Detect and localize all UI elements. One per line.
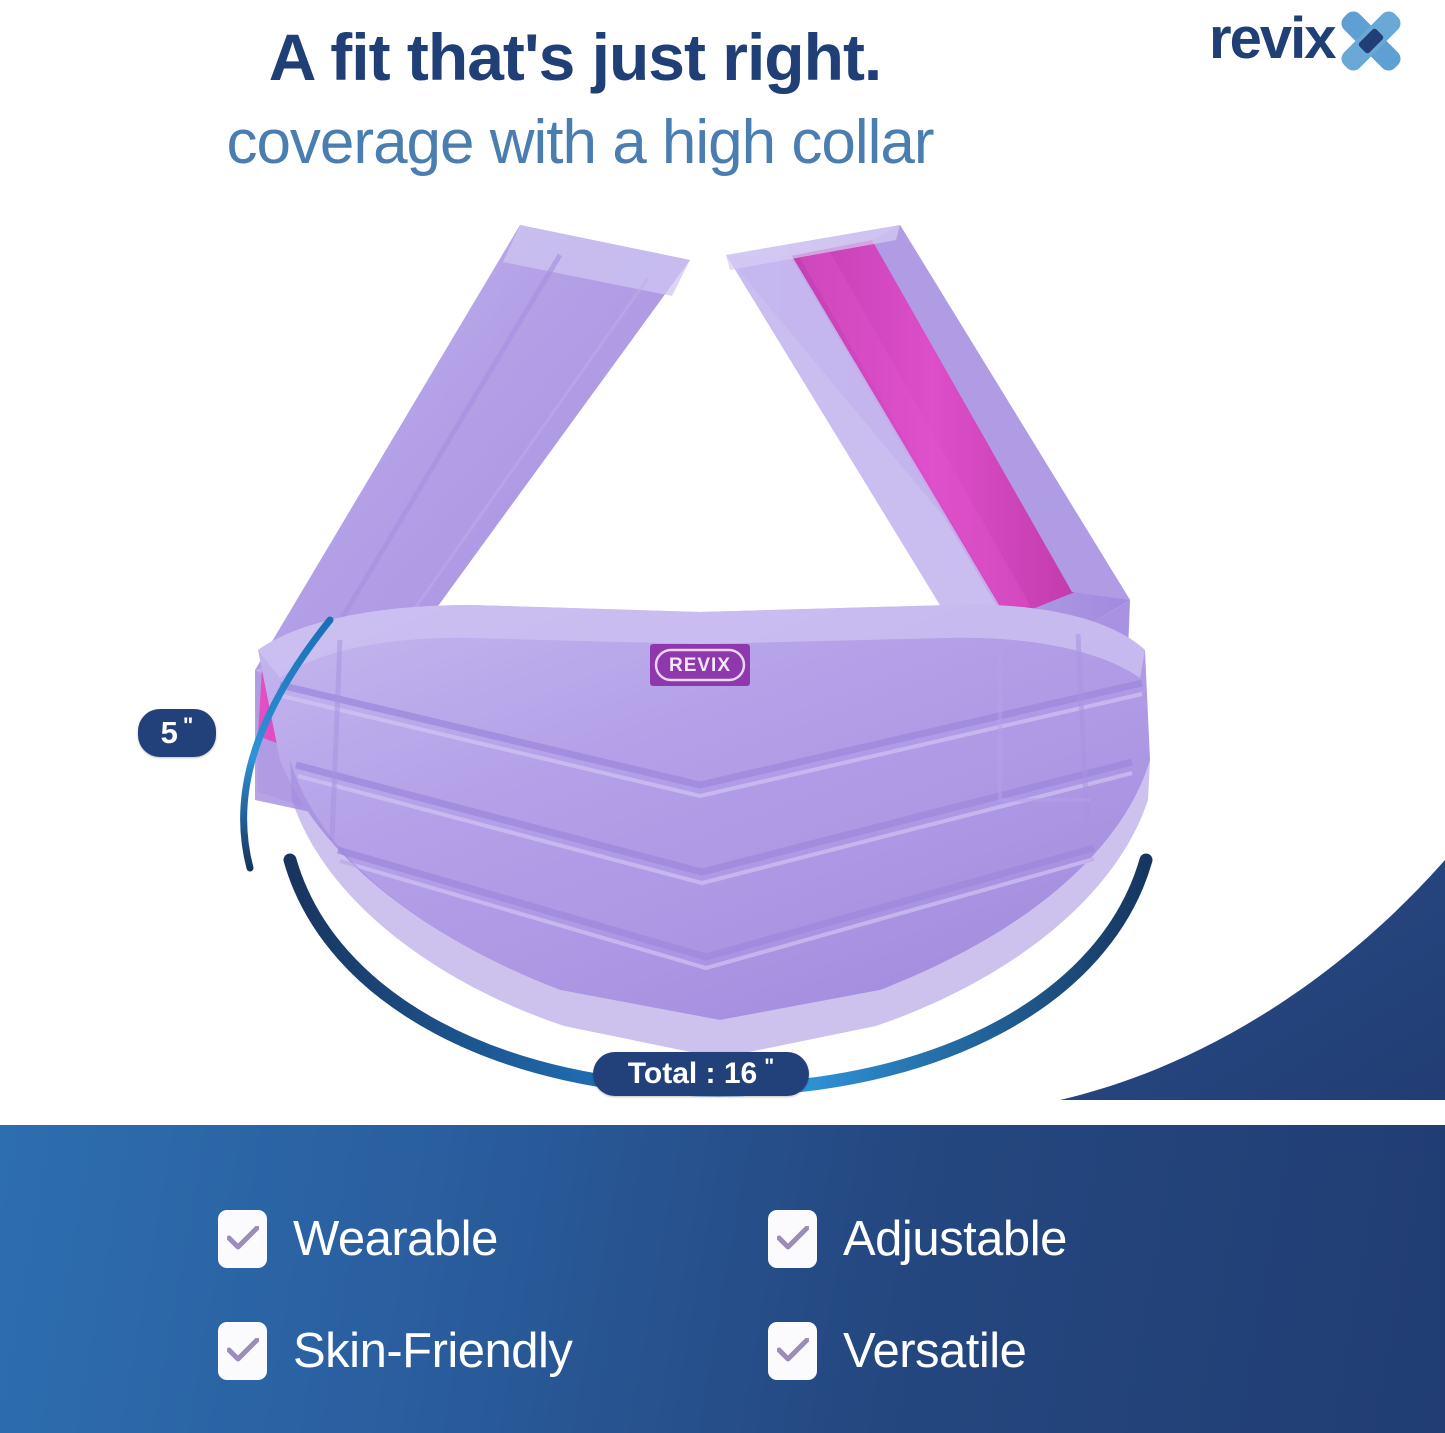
feature-label: Skin-Friendly <box>293 1323 572 1379</box>
feature-item-skin-friendly: Skin-Friendly <box>218 1295 768 1407</box>
check-icon-glyph <box>777 1226 809 1252</box>
brand-logo: revix <box>1209 8 1429 80</box>
brand-logo-text: revix <box>1209 10 1334 68</box>
svg-text:REVIX: REVIX <box>669 655 731 676</box>
wrap-body: REVIX <box>258 605 1150 1058</box>
check-icon <box>218 1210 267 1268</box>
check-icon-glyph <box>777 1338 809 1364</box>
height-unit: " <box>183 713 193 739</box>
total-unit: " <box>764 1055 774 1079</box>
feature-label: Versatile <box>843 1323 1026 1379</box>
feature-label: Adjustable <box>843 1211 1067 1267</box>
feature-list: Wearable Adjustable Skin-Friendly <box>218 1183 1278 1407</box>
page-title: A fit that's just right. <box>0 24 1150 90</box>
feature-item-versatile: Versatile <box>768 1295 1278 1407</box>
infographic-page: A fit that's just right. coverage with a… <box>0 0 1445 1433</box>
header: A fit that's just right. coverage with a… <box>0 0 1445 210</box>
corner-swoosh <box>1060 860 1445 1100</box>
feature-item-adjustable: Adjustable <box>768 1183 1278 1295</box>
check-icon <box>768 1322 817 1380</box>
feature-item-wearable: Wearable <box>218 1183 768 1295</box>
total-length-badge: Total : 16" <box>593 1052 809 1096</box>
height-value: 5 <box>161 709 178 757</box>
check-icon-glyph <box>227 1226 259 1252</box>
check-icon-glyph <box>227 1338 259 1364</box>
product-brand-tag: REVIX <box>650 644 750 686</box>
check-icon <box>218 1322 267 1380</box>
product-wrap-graphic: REVIX <box>0 200 1445 1100</box>
page-subtitle: coverage with a high collar <box>0 112 1160 174</box>
product-illustration: REVIX <box>0 200 1445 1100</box>
height-badge: 5" <box>138 709 216 757</box>
feature-band: Wearable Adjustable Skin-Friendly <box>0 1125 1445 1433</box>
total-value: Total : 16 <box>628 1052 757 1096</box>
check-icon <box>768 1210 817 1268</box>
feature-label: Wearable <box>293 1211 498 1267</box>
